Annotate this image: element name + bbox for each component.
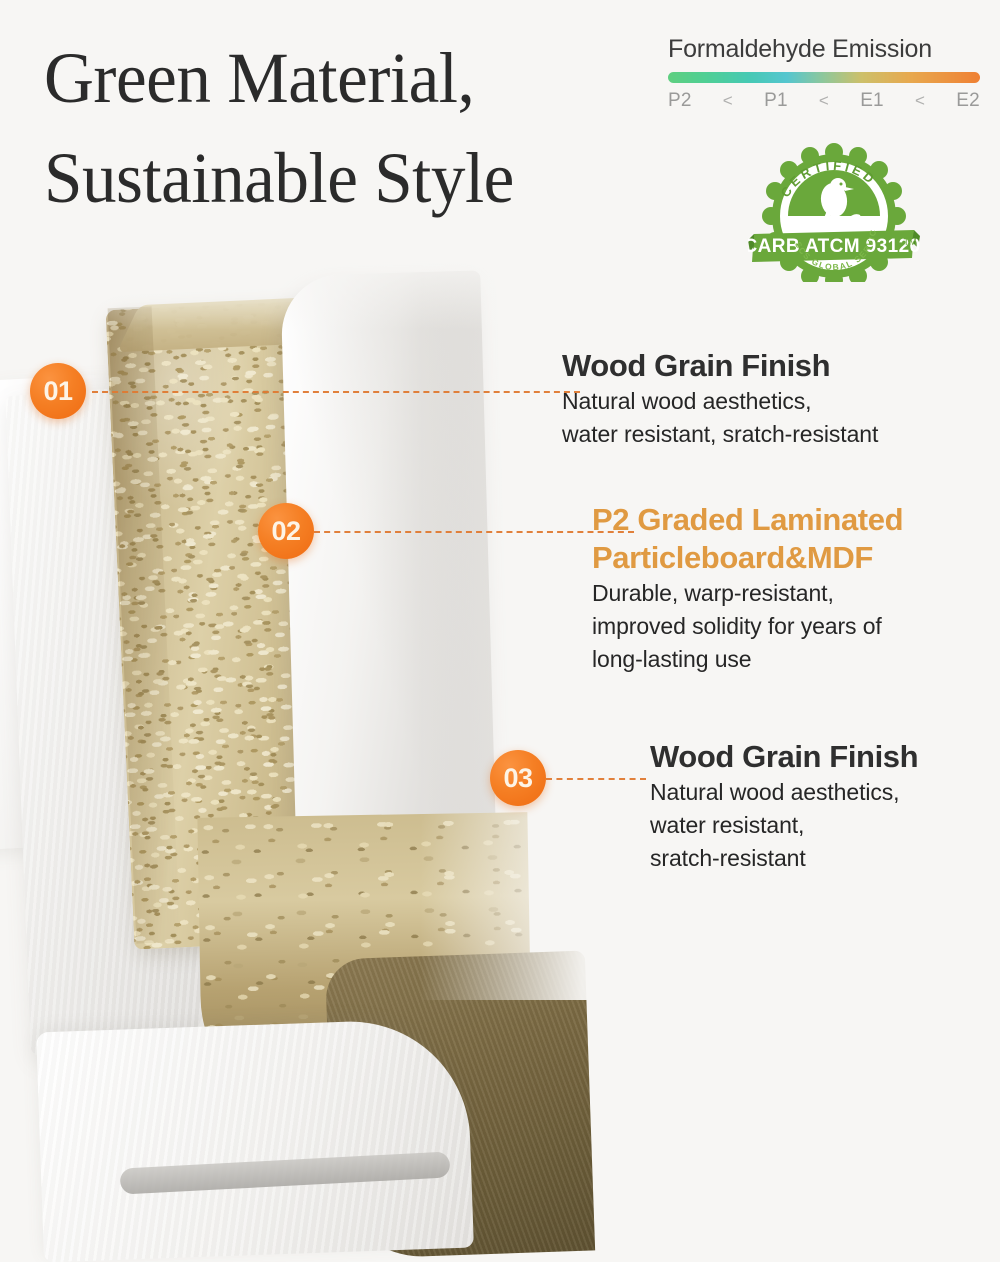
callout-02-text: P2 Graded Laminated Particleboard&MDF Du… xyxy=(592,501,1000,676)
callout-01-text: Wood Grain Finish Natural wood aesthetic… xyxy=(562,347,1000,451)
callout-01-body-line-2: water resistant, sratch-resistant xyxy=(562,418,1000,451)
headline-line-2: Sustainable Style xyxy=(44,128,658,228)
page-title: Green Material, Sustainable Style xyxy=(44,28,684,228)
callout-03-body-line-1: Natural wood aesthetics, xyxy=(650,776,1000,809)
emission-label-p2: P2 xyxy=(668,90,692,112)
callout-03-title: Wood Grain Finish xyxy=(650,738,1000,776)
leader-line-03 xyxy=(546,778,646,780)
marker-01: 01 xyxy=(30,363,86,419)
marker-03: 03 xyxy=(490,750,546,806)
callout-02-title-line-1: P2 Graded Laminated xyxy=(592,501,1000,539)
emission-label-e1: E1 xyxy=(860,90,884,112)
emission-labels: P2 < P1 < E1 < E2 xyxy=(668,90,980,112)
marker-01-number: 01 xyxy=(43,376,72,407)
emission-label-e2: E2 xyxy=(956,90,980,112)
leader-line-01 xyxy=(92,391,580,393)
emission-label-p1: P1 xyxy=(764,90,788,112)
callout-02-body-line-2: improved solidity for years of xyxy=(592,610,1000,643)
emission-separator-1: < xyxy=(723,91,733,111)
callout-02-body-line-1: Durable, warp-resistant, xyxy=(592,577,1000,610)
callout-01-body-line-1: Natural wood aesthetics, xyxy=(562,385,1000,418)
marker-02-number: 02 xyxy=(271,516,300,547)
callout-02-title-line-2: Particleboard&MDF xyxy=(592,539,1000,577)
badge-main-text: CARB ATCM 93120 xyxy=(748,236,920,257)
marker-03-number: 03 xyxy=(503,763,532,794)
callout-03-body-line-2: water resistant, xyxy=(650,809,1000,842)
emission-gradient-bar xyxy=(668,72,980,83)
leader-line-02 xyxy=(314,531,634,533)
badge-trademark: TM xyxy=(904,237,917,247)
emission-separator-2: < xyxy=(819,91,829,111)
callout-01-title: Wood Grain Finish xyxy=(562,347,1000,385)
callout-03-text: Wood Grain Finish Natural wood aesthetic… xyxy=(650,738,1000,875)
marker-02: 02 xyxy=(258,503,314,559)
emission-separator-3: < xyxy=(915,91,925,111)
emission-title: Formaldehyde Emission xyxy=(668,34,980,64)
product-photo xyxy=(0,255,600,1000)
infographic-canvas: Green Material, Sustainable Style Formal… xyxy=(0,0,1000,1000)
callout-03-body-line-3: sratch-resistant xyxy=(650,842,1000,875)
headline-line-1: Green Material, xyxy=(44,28,658,128)
callout-02-body-line-3: long-lasting use xyxy=(592,643,1000,676)
panel-base-bottom xyxy=(36,1018,474,1262)
carb-certification-badge: CERTIFIED CARB ATCM 93120 TM xyxy=(748,142,920,282)
formaldehyde-emission-scale: Formaldehyde Emission P2 < P1 < E1 < E2 xyxy=(668,34,980,112)
